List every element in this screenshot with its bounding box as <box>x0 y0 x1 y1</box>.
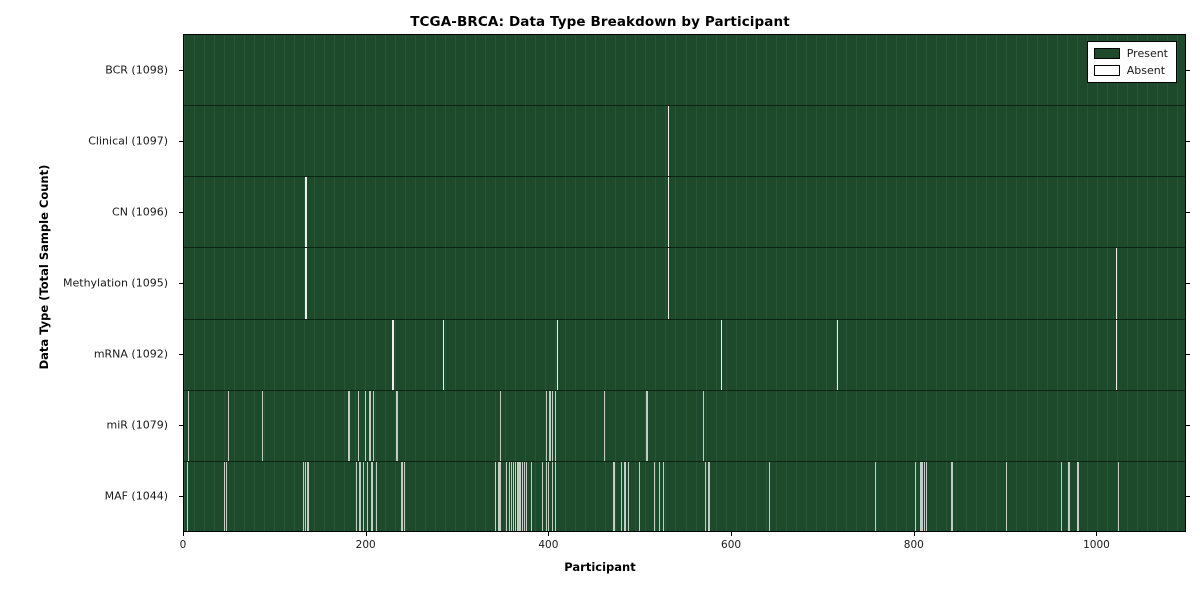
absent-cell <box>401 462 402 532</box>
absent-cell <box>703 391 704 461</box>
absent-cell <box>363 462 364 532</box>
absent-cell <box>654 462 655 532</box>
absent-cell <box>926 462 927 532</box>
legend-entry-present: Present <box>1094 47 1168 60</box>
x-tick-label: 600 <box>721 539 741 551</box>
heatmap-row <box>184 106 1185 177</box>
absent-cell <box>708 462 709 532</box>
heatmap-row <box>184 177 1185 248</box>
heatmap-row <box>184 35 1185 106</box>
absent-cell <box>915 462 916 532</box>
absent-cell <box>1006 462 1007 532</box>
y-tick-mark-right <box>1186 496 1190 497</box>
figure-canvas: TCGA-BRCA: Data Type Breakdown by Partic… <box>0 0 1200 600</box>
absent-cell <box>604 391 605 461</box>
absent-cell <box>837 320 838 390</box>
absent-cell <box>875 462 876 532</box>
absent-cell <box>305 462 306 532</box>
y-tick-label: BCR (1098) <box>105 63 168 76</box>
y-axis-tick-labels: BCR (1098)Clinical (1097)CN (1096)Methyl… <box>0 34 176 532</box>
absent-cell <box>668 177 669 247</box>
absent-cell <box>705 462 706 532</box>
y-tick-mark-right <box>1186 212 1190 213</box>
absent-cell <box>373 391 374 461</box>
y-tick-label: Clinical (1097) <box>88 134 168 147</box>
x-tick-mark <box>1096 532 1097 536</box>
absent-cell <box>659 462 660 532</box>
absent-cell <box>305 248 306 318</box>
legend-swatch-present <box>1094 48 1120 59</box>
legend-label-present: Present <box>1127 47 1168 60</box>
absent-cell <box>663 462 664 532</box>
row-gridlines <box>184 35 1185 105</box>
y-tick-label: CN (1096) <box>112 205 168 218</box>
row-gridlines <box>184 320 1185 390</box>
x-tick-label: 400 <box>538 539 558 551</box>
absent-cell <box>1077 462 1078 532</box>
x-tick-label: 800 <box>904 539 924 551</box>
row-gridlines <box>184 177 1185 247</box>
heatmap-row <box>184 248 1185 319</box>
heatmap-row <box>184 391 1185 462</box>
y-tick-mark <box>179 70 183 71</box>
row-gridlines <box>184 248 1185 318</box>
absent-cell <box>262 391 263 461</box>
absent-cell <box>1068 462 1069 532</box>
absent-cell <box>668 248 669 318</box>
absent-cell <box>305 177 306 247</box>
absent-cell <box>397 391 398 461</box>
absent-cell <box>359 462 360 532</box>
absent-cell <box>500 462 501 532</box>
absent-cell <box>951 462 952 532</box>
absent-cell <box>348 391 349 461</box>
absent-cell <box>557 320 558 390</box>
absent-cell <box>404 462 405 532</box>
heatmap-row <box>184 320 1185 391</box>
y-tick-label: miR (1079) <box>107 419 169 432</box>
x-tick-label: 0 <box>180 539 187 551</box>
y-tick-mark <box>179 283 183 284</box>
absent-cell <box>367 462 368 532</box>
absent-cell <box>356 462 357 532</box>
chart-title: TCGA-BRCA: Data Type Breakdown by Partic… <box>0 14 1200 30</box>
y-tick-mark <box>179 212 183 213</box>
absent-cell <box>358 391 359 461</box>
absent-cell <box>187 462 188 532</box>
x-tick-mark <box>914 532 915 536</box>
absent-cell <box>621 462 622 532</box>
y-tick-mark-right <box>1186 354 1190 355</box>
row-gridlines <box>184 106 1185 176</box>
absent-cell <box>1118 462 1119 532</box>
absent-cell <box>376 462 377 532</box>
absent-cell <box>769 462 770 532</box>
absent-cell <box>526 462 527 532</box>
y-tick-mark <box>179 354 183 355</box>
absent-cell <box>628 462 629 532</box>
x-tick-label: 1000 <box>1083 539 1110 551</box>
absent-cell <box>226 462 227 532</box>
absent-cell <box>495 462 496 532</box>
absent-cell <box>188 391 189 461</box>
row-gridlines <box>184 391 1185 461</box>
legend-label-absent: Absent <box>1127 64 1165 77</box>
absent-cell <box>369 391 370 461</box>
absent-cell <box>546 391 547 461</box>
absent-cell <box>506 462 507 532</box>
y-tick-mark-right <box>1186 425 1190 426</box>
x-tick-mark <box>731 532 732 536</box>
legend-entry-absent: Absent <box>1094 64 1168 77</box>
y-tick-mark <box>179 141 183 142</box>
absent-cell <box>548 462 549 532</box>
legend-swatch-absent <box>1094 65 1120 76</box>
absent-cell <box>1061 462 1062 532</box>
absent-cell <box>639 462 640 532</box>
absent-cell <box>1116 320 1117 390</box>
x-tick-mark <box>548 532 549 536</box>
absent-cell <box>365 391 366 461</box>
absent-cell <box>531 462 532 532</box>
absent-cell <box>552 462 553 532</box>
y-tick-mark <box>179 496 183 497</box>
legend: Present Absent <box>1087 41 1177 83</box>
absent-cell <box>371 462 372 532</box>
absent-cell <box>443 320 444 390</box>
absent-cell <box>613 462 614 532</box>
y-tick-mark-right <box>1186 70 1190 71</box>
heatmap-plot-area[interactable]: Present Absent <box>183 34 1186 532</box>
absent-cell <box>392 320 393 390</box>
absent-cell <box>646 391 647 461</box>
absent-cell <box>552 391 553 461</box>
y-tick-mark-right <box>1186 141 1190 142</box>
heatmap-row <box>184 462 1185 532</box>
absent-cell <box>500 391 501 461</box>
absent-cell <box>624 462 625 532</box>
x-tick-mark <box>183 532 184 536</box>
x-axis-tick-labels: 02004006008001000 <box>0 536 1200 556</box>
absent-cell <box>549 391 550 461</box>
absent-cell <box>555 462 556 532</box>
absent-cell <box>542 462 543 532</box>
absent-cell <box>721 320 722 390</box>
x-tick-mark <box>366 532 367 536</box>
absent-cell <box>228 391 229 461</box>
row-gridlines <box>184 462 1185 532</box>
x-axis-title: Participant <box>0 560 1200 574</box>
absent-cell <box>1116 248 1117 318</box>
absent-cell <box>307 462 308 532</box>
y-tick-mark-right <box>1186 283 1190 284</box>
y-tick-label: Methylation (1095) <box>63 277 168 290</box>
absent-cell <box>668 106 669 176</box>
x-tick-label: 200 <box>356 539 376 551</box>
absent-cell <box>555 391 556 461</box>
y-tick-mark <box>179 425 183 426</box>
y-tick-label: mRNA (1092) <box>94 348 168 361</box>
y-tick-label: MAF (1044) <box>105 490 168 503</box>
